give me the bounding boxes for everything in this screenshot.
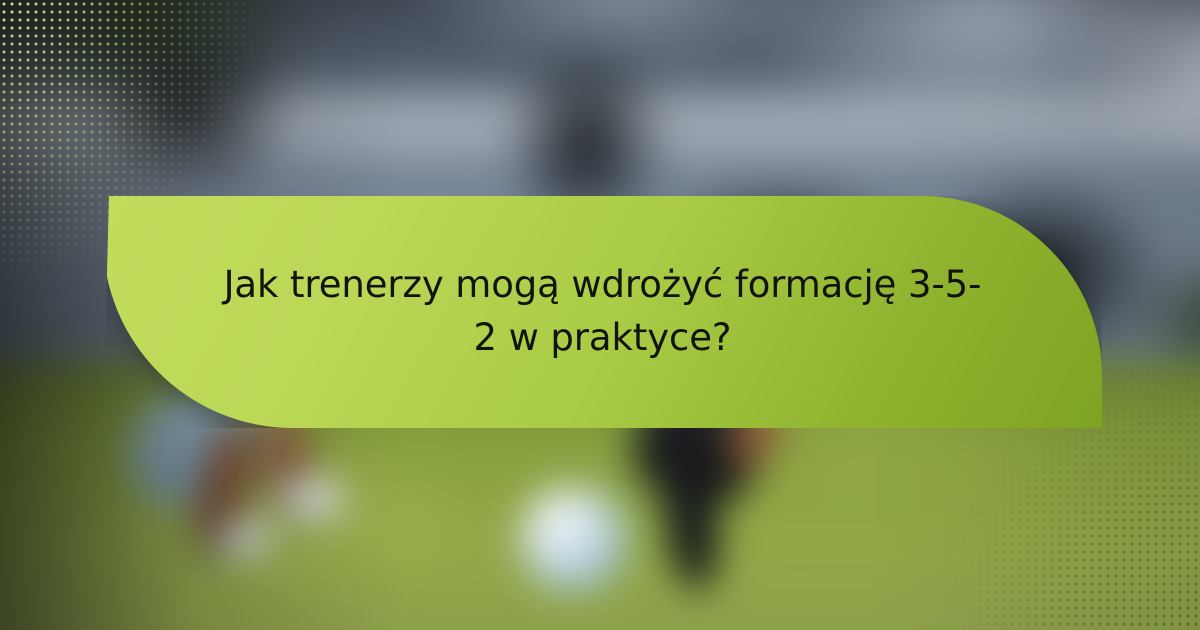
page-title: Jak trenerzy mogą wdrożyć formację 3-5-2… [203,259,1003,364]
headline-card: Jak trenerzy mogą wdrożyć formację 3-5-2… [103,196,1102,428]
social-card-canvas: Jak trenerzy mogą wdrożyć formację 3-5-2… [0,0,1200,630]
